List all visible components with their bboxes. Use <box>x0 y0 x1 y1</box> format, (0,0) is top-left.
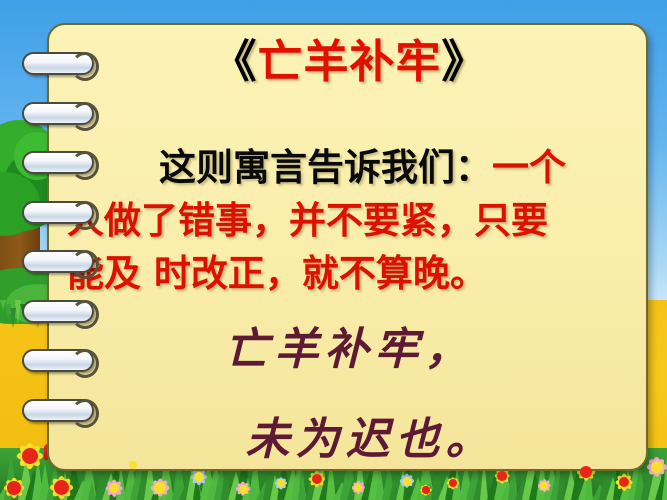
spiral-ring-icon <box>22 201 94 224</box>
idiom-script-line-1: 亡羊补牢， <box>49 313 650 377</box>
spiral-ring-icon <box>22 52 94 75</box>
spiral-ring-icon <box>22 300 94 323</box>
moral-paragraph: 这则寓言告诉我们：一个 人做了错事，并不要紧，只要 能及 时改正，就不算晚。 <box>51 141 655 300</box>
flower-icon <box>344 474 372 500</box>
flower-icon <box>530 472 558 500</box>
spiral-binding <box>0 0 120 500</box>
spiral-ring-icon <box>22 399 94 422</box>
title-open-bracket: 《 <box>211 35 257 88</box>
flower-icon <box>414 478 438 500</box>
moral-line-2: 人做了错事，并不要紧，只要 <box>51 194 655 247</box>
spiral-ring-icon <box>22 151 94 174</box>
idiom-script-line-2: 未为迟也。 <box>49 403 650 467</box>
spiral-ring-icon <box>22 102 94 125</box>
flower-icon <box>228 474 258 500</box>
flower-icon <box>268 470 294 496</box>
spiral-ring-icon <box>22 349 94 372</box>
moral-line-1: 这则寓言告诉我们：一个 <box>51 141 655 194</box>
title-close-bracket: 》 <box>442 35 488 88</box>
notebook-page: 《亡羊补牢》 这则寓言告诉我们：一个 人做了错事，并不要紧，只要 能及 时改正，… <box>47 23 648 471</box>
page-title: 《亡羊补牢》 <box>49 37 650 87</box>
moral-line-1-black: 这则寓言告诉我们： <box>159 146 492 189</box>
flower-icon <box>440 470 466 496</box>
spiral-ring-icon <box>22 250 94 273</box>
title-text: 亡羊补牢 <box>257 35 441 88</box>
moral-line-3: 能及 时改正，就不算晚。 <box>51 247 655 300</box>
slide-canvas: 《亡羊补牢》 这则寓言告诉我们：一个 人做了错事，并不要紧，只要 能及 时改正，… <box>0 0 667 500</box>
moral-line-1-red: 一个 <box>492 146 566 189</box>
